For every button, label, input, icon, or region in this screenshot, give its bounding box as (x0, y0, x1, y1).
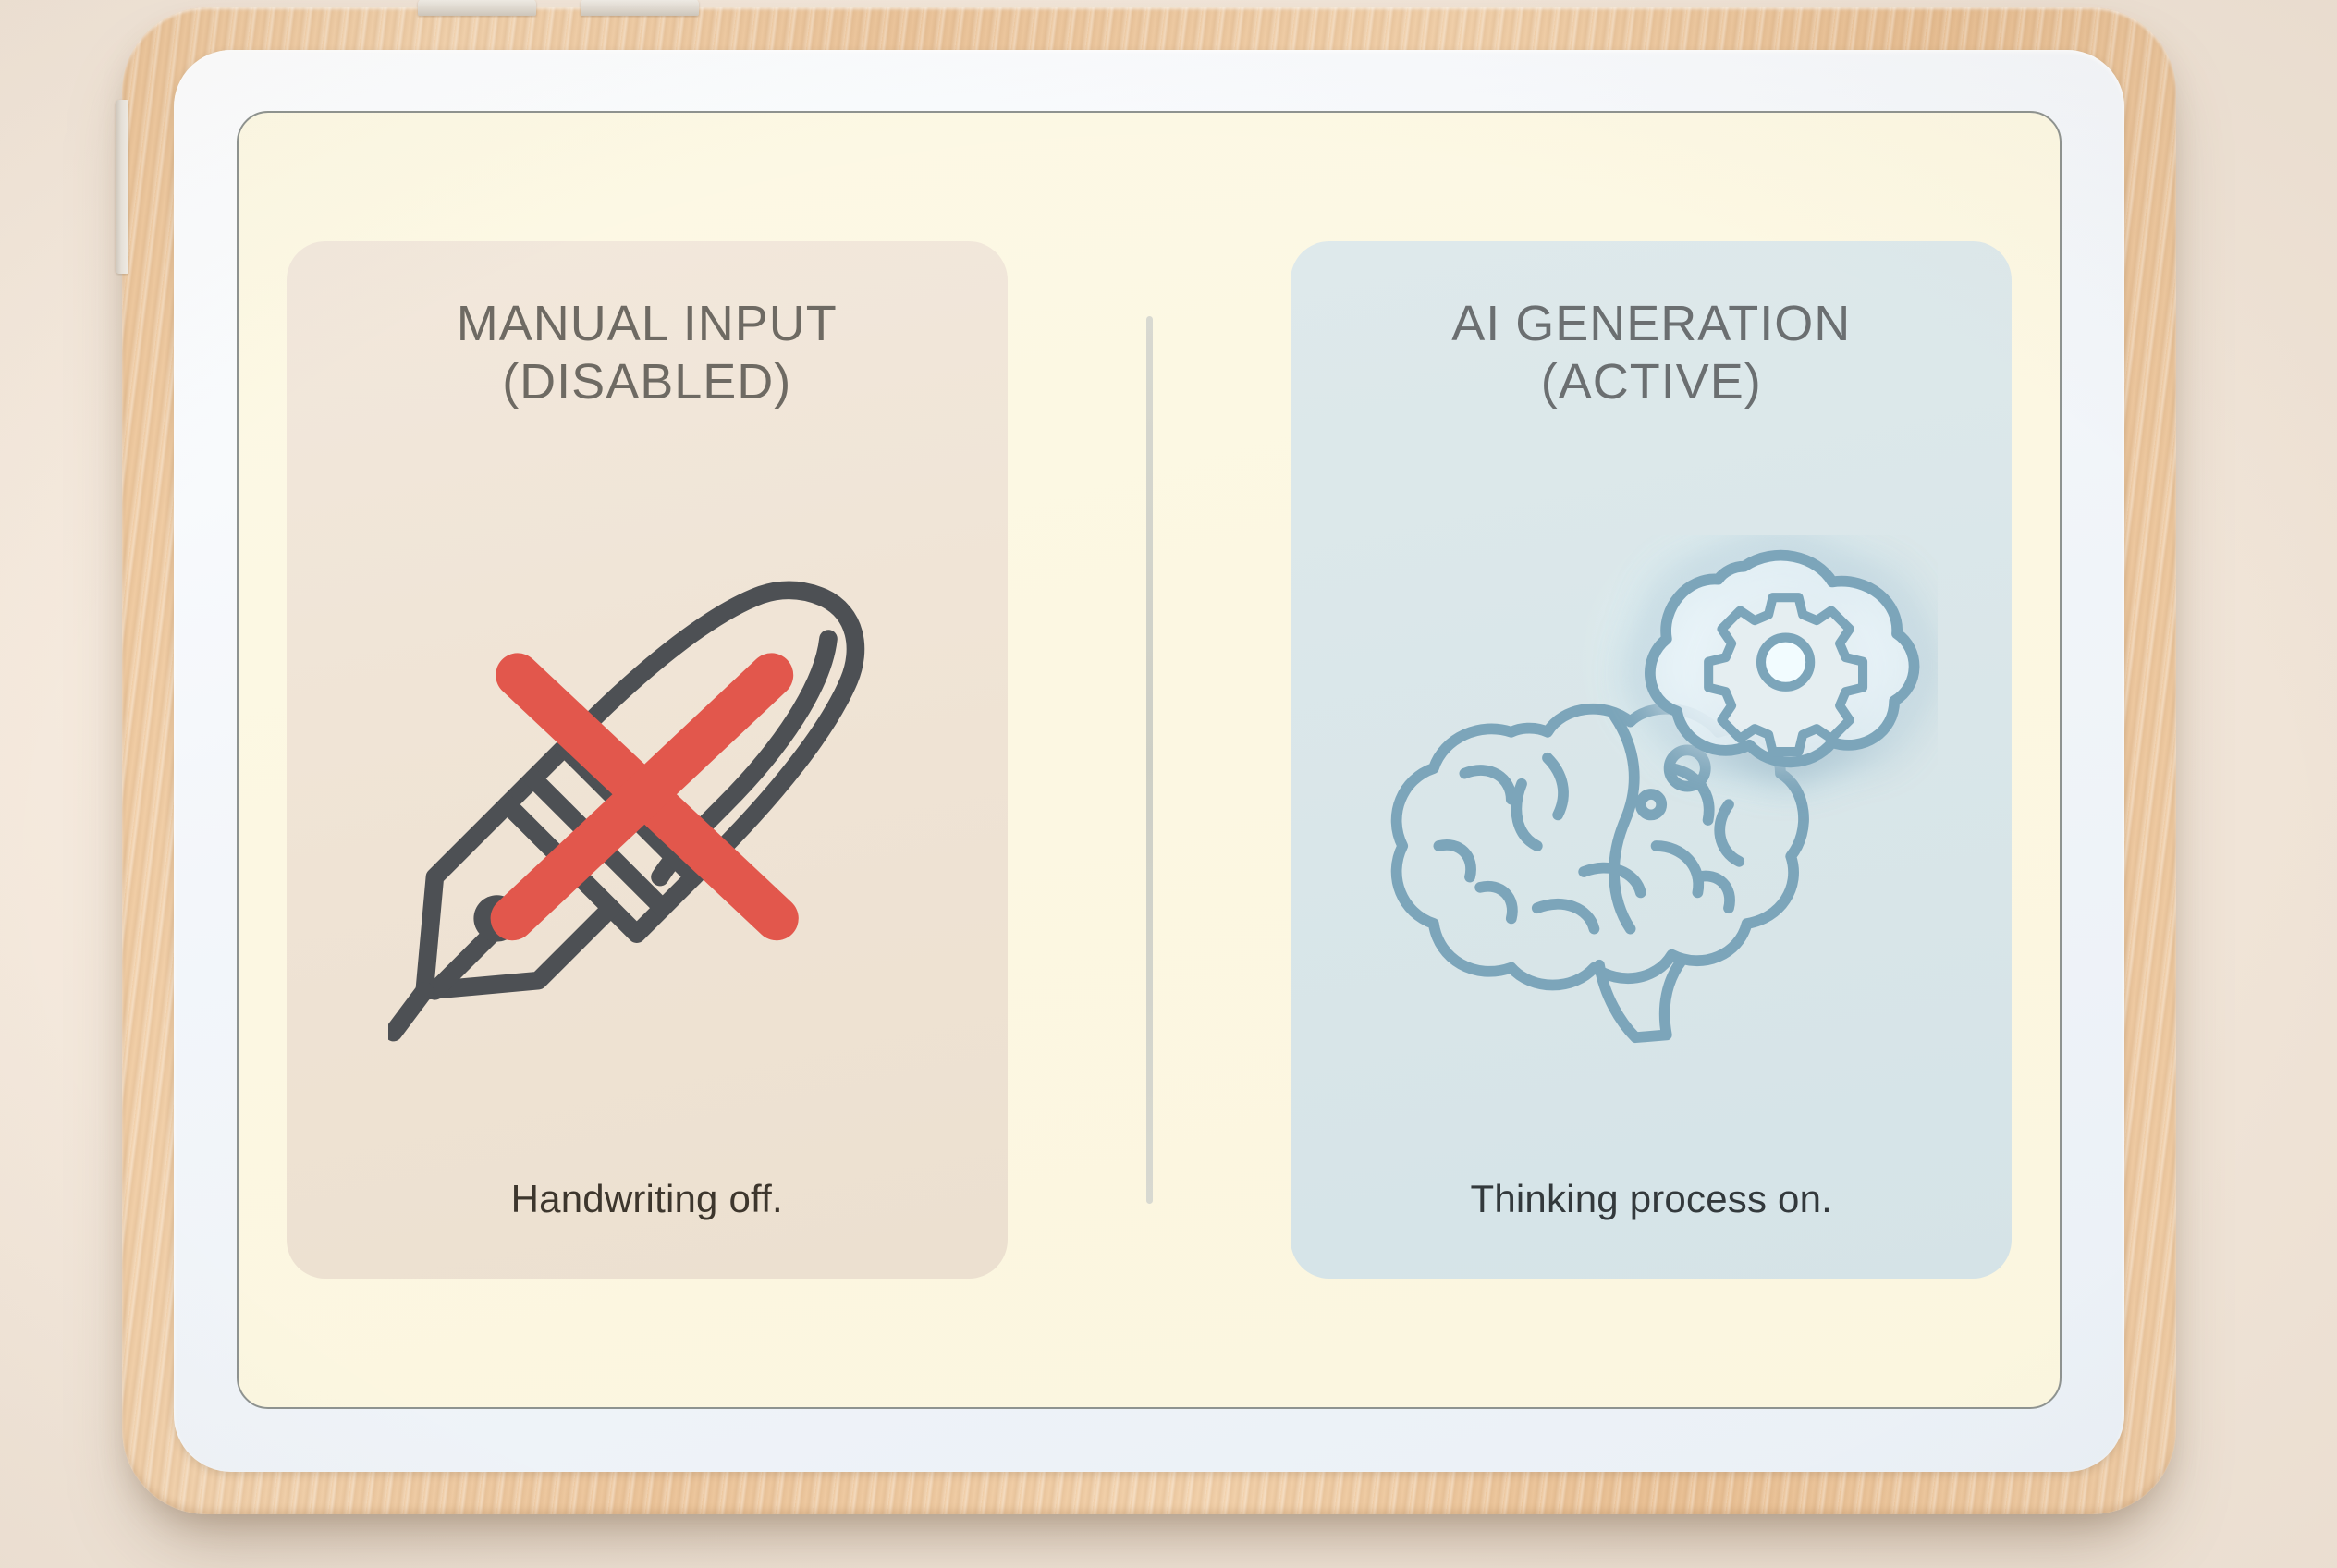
fountain-pen-crossed-out-icon (388, 535, 906, 1053)
tablet-screen: MANUAL INPUT (DISABLED) (237, 111, 2062, 1409)
comparison-panels: MANUAL INPUT (DISABLED) (239, 113, 2060, 1407)
volume-down-button[interactable] (581, 0, 699, 16)
panel-slot-manual: MANUAL INPUT (DISABLED) (239, 241, 1056, 1279)
card-caption-manual: Handwriting off. (511, 1177, 783, 1229)
card-ai-generation[interactable]: AI GENERATION (ACTIVE) (1291, 241, 2012, 1279)
scene-background: MANUAL INPUT (DISABLED) (0, 0, 2337, 1568)
gear-icon (1708, 597, 1863, 752)
thought-bubble (1650, 556, 1915, 763)
volume-up-button[interactable] (418, 0, 536, 16)
card-title-ai: AI GENERATION (ACTIVE) (1451, 295, 1851, 411)
card-manual-input[interactable]: MANUAL INPUT (DISABLED) (287, 241, 1008, 1279)
tablet-device: MANUAL INPUT (DISABLED) (122, 7, 2176, 1514)
tablet-bezel: MANUAL INPUT (DISABLED) (174, 50, 2124, 1472)
brain-thought-bubble-gear-icon (1364, 535, 1938, 1053)
card-title-manual: MANUAL INPUT (DISABLED) (457, 295, 838, 411)
icon-wrap-ai (1333, 411, 1969, 1177)
icon-wrap-manual (329, 411, 965, 1177)
vertical-divider (1146, 316, 1153, 1204)
panel-slot-ai: AI GENERATION (ACTIVE) (1243, 241, 2061, 1279)
card-caption-ai: Thinking process on. (1470, 1177, 1832, 1229)
power-button[interactable] (116, 100, 128, 274)
